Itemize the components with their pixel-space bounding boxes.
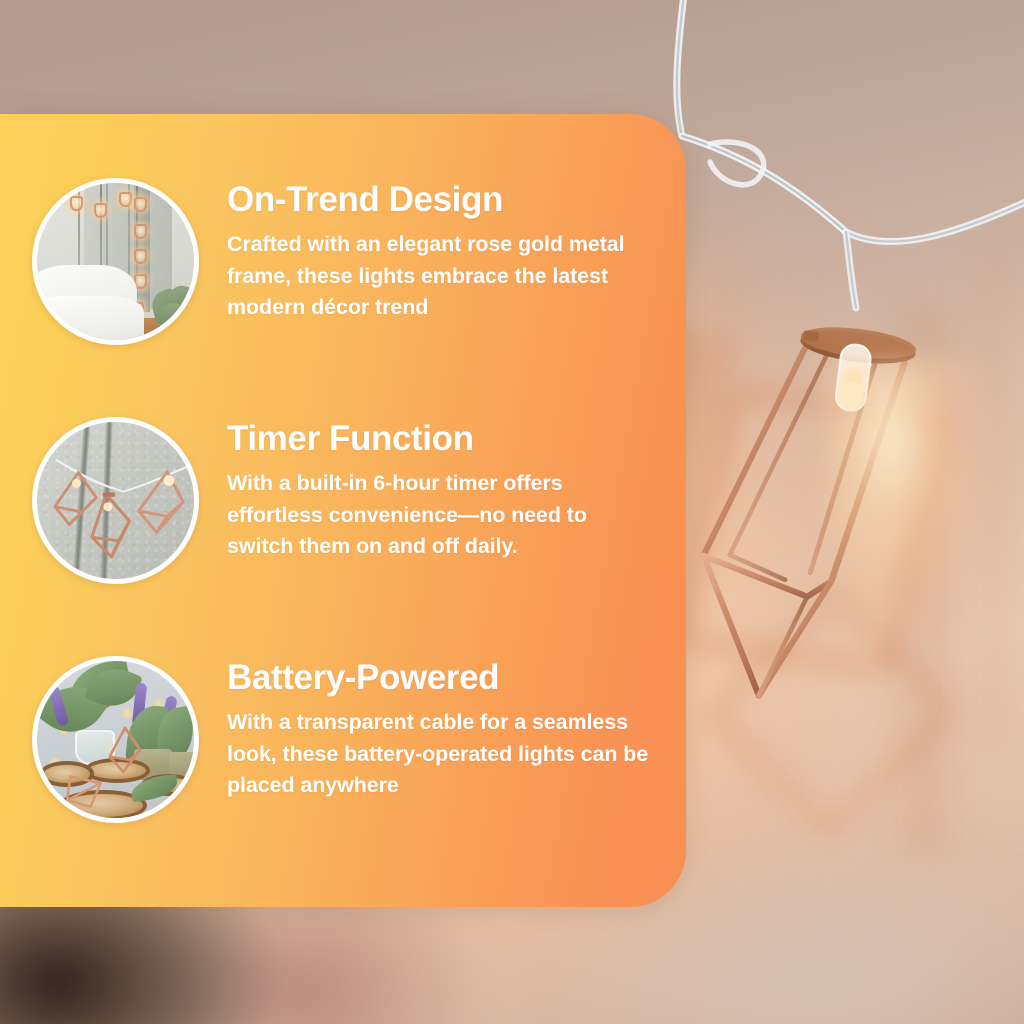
feature-list: On-Trend Design Crafted with an elegant …: [0, 114, 686, 907]
bulb-glow: [826, 360, 996, 650]
feature-description: With a transparent cable for a seamless …: [227, 707, 659, 802]
bedroom-string-lights-photo: [32, 178, 199, 345]
geometric-lamp-closeup-photo: [32, 417, 199, 584]
infographic-canvas: On-Trend Design Crafted with an elegant …: [0, 0, 1024, 1024]
table-decor-lights-photo: [32, 656, 199, 823]
feature-card: On-Trend Design Crafted with an elegant …: [0, 114, 686, 907]
feature-copy: Battery-Powered With a transparent cable…: [227, 656, 659, 802]
feature-title: On-Trend Design: [227, 182, 659, 217]
feature-title: Timer Function: [227, 421, 659, 456]
feature-description: Crafted with an elegant rose gold metal …: [227, 229, 659, 324]
feature-title: Battery-Powered: [227, 660, 659, 695]
feature-item: Battery-Powered With a transparent cable…: [0, 656, 686, 823]
feature-description: With a built-in 6-hour timer offers effo…: [227, 468, 659, 563]
feature-item: Timer Function With a built-in 6-hour ti…: [0, 417, 686, 584]
feature-copy: On-Trend Design Crafted with an elegant …: [227, 178, 659, 324]
feature-item: On-Trend Design Crafted with an elegant …: [0, 178, 686, 345]
feature-copy: Timer Function With a built-in 6-hour ti…: [227, 417, 659, 563]
